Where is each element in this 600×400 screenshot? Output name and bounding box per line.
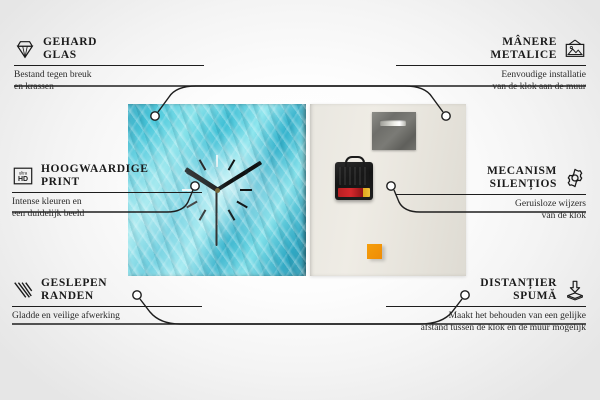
callout-manere-metalice: MÂNERE METALICE Eenvoudige installatie v… bbox=[396, 36, 586, 93]
clock-second-hand bbox=[216, 190, 218, 246]
callout-rule bbox=[386, 306, 586, 307]
clock-tick bbox=[199, 159, 236, 221]
clock-minute-hand bbox=[216, 161, 262, 192]
callout-title-line1: GESLEPEN bbox=[41, 277, 107, 290]
callout-title-line2: GLAS bbox=[43, 49, 97, 62]
callout-rule bbox=[396, 65, 586, 66]
callout-subtitle-line2: van de klok aan de muur bbox=[396, 82, 586, 94]
callout-subtitle-line2: een duidelijk beeld bbox=[12, 209, 202, 221]
callout-subtitle-line1: Geruisloze wijzers bbox=[396, 199, 586, 211]
callout-title-line1: MÂNERE bbox=[490, 36, 557, 49]
callout-title-line1: DISTANȚIER bbox=[480, 277, 557, 290]
spacer-arrow-icon bbox=[564, 279, 586, 301]
callout-title-line2: SPUMĂ bbox=[480, 290, 557, 303]
callout-geslepen-randen: GESLEPEN RANDEN Gladde en veilige afwerk… bbox=[12, 277, 202, 323]
callout-rule bbox=[12, 192, 202, 193]
callout-head: GEHARD GLAS bbox=[14, 36, 204, 62]
clock-tick bbox=[216, 155, 218, 225]
callout-rule bbox=[396, 194, 586, 195]
callout-subtitle-line1: Eenvoudige installatie bbox=[396, 70, 586, 82]
callout-head: DISTANȚIER SPUMĂ bbox=[386, 277, 586, 303]
metal-hanger-part bbox=[372, 112, 416, 150]
callout-subtitle-line1: Maakt het behouden van een gelijke bbox=[386, 311, 586, 323]
callout-hoogwaardige-print: ultra HD HOOGWAARDIGE PRINT Intense kleu… bbox=[12, 163, 202, 220]
clock-tick bbox=[216, 155, 218, 225]
callout-subtitle-line2: en krassen bbox=[14, 82, 204, 94]
diamond-icon bbox=[14, 38, 36, 60]
svg-text:ultra: ultra bbox=[19, 171, 28, 176]
clock-tick bbox=[199, 159, 236, 221]
callout-rule bbox=[12, 306, 202, 307]
wall-mount-icon bbox=[564, 38, 586, 60]
svg-text:HD: HD bbox=[18, 176, 28, 183]
infographic-canvas: GEHARD GLAS Bestand tegen breuk en krass… bbox=[0, 0, 600, 400]
clock-center-pin bbox=[215, 188, 220, 193]
callout-subtitle-line1: Gladde en veilige afwerking bbox=[12, 311, 202, 323]
hanger-slot bbox=[380, 120, 406, 126]
callout-head: MECANISM SILENȚIOS bbox=[396, 165, 586, 191]
battery bbox=[338, 188, 370, 197]
callout-gehard-glas: GEHARD GLAS Bestand tegen breuk en krass… bbox=[14, 36, 204, 93]
bevelled-edges-icon bbox=[12, 279, 34, 301]
callout-subtitle-line2: van de klok bbox=[396, 211, 586, 223]
callout-title-line2: PRINT bbox=[41, 176, 149, 189]
clock-mechanism-part bbox=[335, 162, 373, 200]
callout-head: ultra HD HOOGWAARDIGE PRINT bbox=[12, 163, 202, 189]
callout-subtitle-line1: Intense kleuren en bbox=[12, 197, 202, 209]
callout-title-line2: METALICE bbox=[490, 49, 557, 62]
callout-title-line2: SILENȚIOS bbox=[487, 178, 557, 191]
mechanism-loop bbox=[345, 156, 365, 167]
callout-subtitle-line2: afstand tussen de klok en de muur mogeli… bbox=[386, 323, 586, 335]
callout-head: MÂNERE METALICE bbox=[396, 36, 586, 62]
callout-mecanism-silentios: MECANISM SILENȚIOS Geruisloze wijzers va… bbox=[396, 165, 586, 222]
foam-spacer-part bbox=[367, 244, 382, 259]
callout-title-line1: GEHARD bbox=[43, 36, 97, 49]
callout-distantier-spuma: DISTANȚIER SPUMĂ Maakt het behouden van … bbox=[386, 277, 586, 334]
callout-head: GESLEPEN RANDEN bbox=[12, 277, 202, 303]
gear-icon bbox=[564, 167, 586, 189]
ultra-hd-icon: ultra HD bbox=[12, 165, 34, 187]
callout-subtitle-line1: Bestand tegen breuk bbox=[14, 70, 204, 82]
clock-tick bbox=[199, 159, 236, 221]
callout-title-line2: RANDEN bbox=[41, 290, 107, 303]
clock-tick bbox=[199, 159, 236, 221]
mechanism-texture bbox=[339, 167, 369, 185]
callout-title-line1: HOOGWAARDIGE bbox=[41, 163, 149, 176]
callout-rule bbox=[14, 65, 204, 66]
callout-title-line1: MECANISM bbox=[487, 165, 557, 178]
